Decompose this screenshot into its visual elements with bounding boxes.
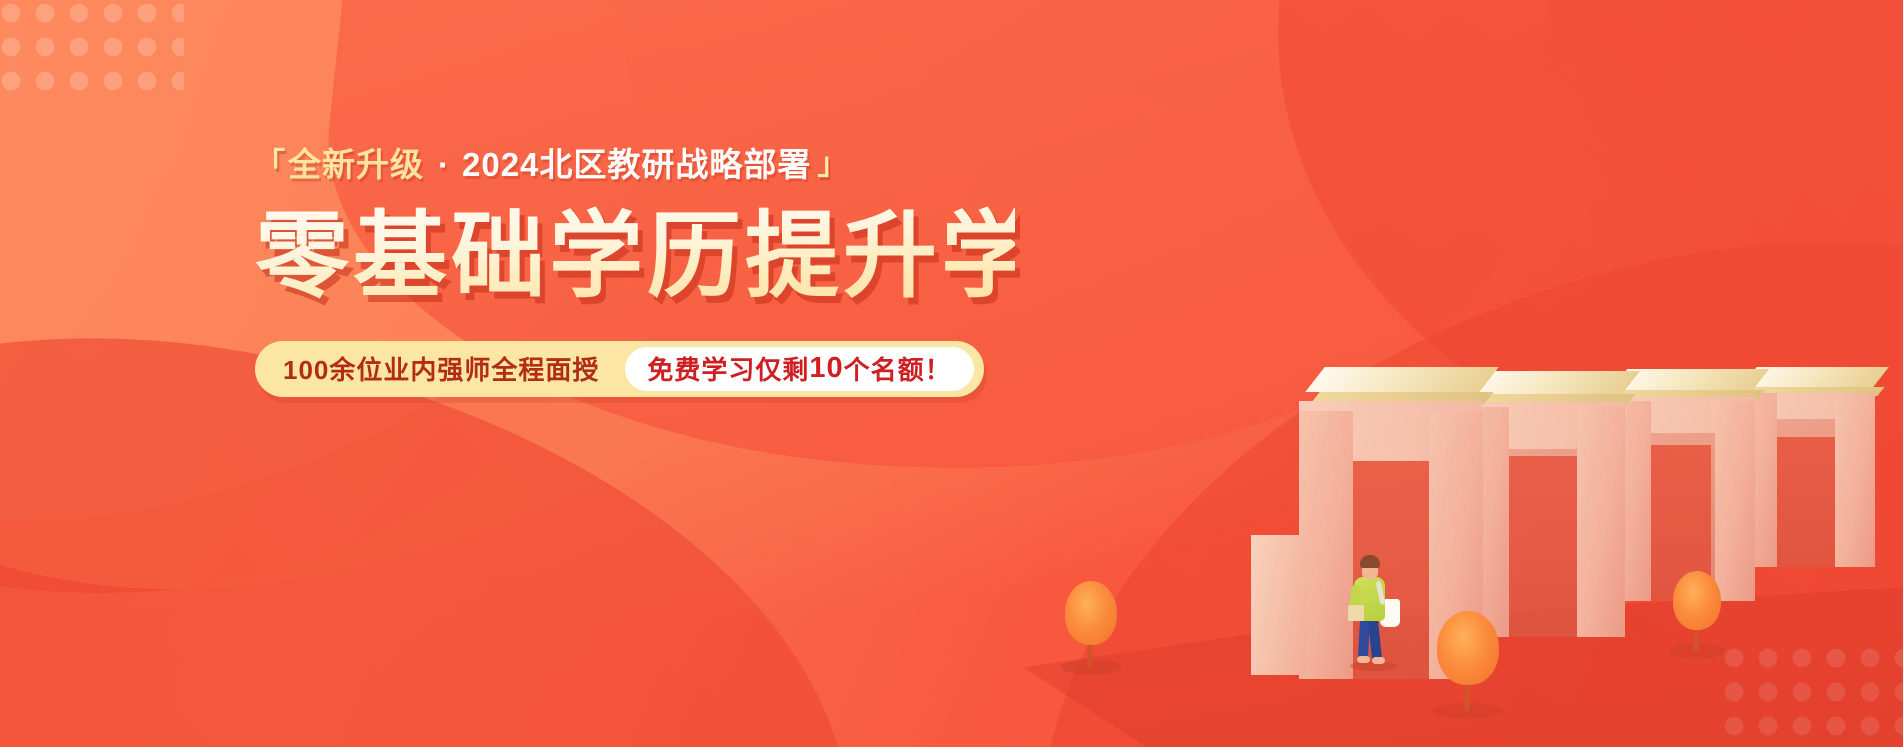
promo-banner: 「 全新升级 · 2024北区教研战略部署 」 零基础学历提升学霸班 100余位… bbox=[0, 0, 1903, 747]
subtitle-close-bracket: 」 bbox=[817, 150, 848, 180]
illustration-arch-leg bbox=[1461, 407, 1509, 637]
illustration-arch-opening bbox=[1651, 433, 1715, 601]
dot-grid-icon bbox=[1717, 641, 1903, 747]
subtitle-open-bracket: 「 bbox=[255, 150, 286, 180]
illustration-arch-lintel bbox=[1607, 397, 1755, 445]
illustration-arch bbox=[1293, 367, 1489, 679]
illustration-tree bbox=[1437, 611, 1499, 711]
illustration-arch-cap-edge bbox=[1615, 390, 1765, 400]
illustration-arch-leg bbox=[1577, 407, 1625, 637]
subtitle-highlight-text: 全新升级 bbox=[288, 148, 424, 181]
banner-copy: 「 全新升级 · 2024北区教研战略部署 」 零基础学历提升学霸班 100余位… bbox=[255, 148, 1015, 397]
illustration-arch-opening bbox=[1509, 449, 1577, 637]
illustration-tree bbox=[1673, 571, 1721, 651]
illustration-arch-cap bbox=[1741, 367, 1889, 387]
illustration-arch-leg bbox=[1607, 401, 1651, 601]
illustration-ground-shadow bbox=[1023, 537, 1903, 747]
illustration-arch bbox=[1601, 369, 1761, 601]
badge-pill-prefix: 免费学习仅剩 bbox=[647, 350, 809, 387]
illustration-arch-cap-edge bbox=[1310, 392, 1493, 404]
illustration-arch-cap-edge bbox=[1745, 387, 1884, 396]
illustration-arch-leg bbox=[1737, 393, 1777, 567]
badge-pill-suffix: 个名额！ bbox=[844, 350, 952, 387]
student-walking-icon bbox=[1348, 555, 1408, 675]
background-wave-shape bbox=[1191, 0, 1903, 539]
illustration-arch-cap-edge bbox=[1471, 394, 1636, 405]
badge-pill-number: 10 bbox=[809, 352, 843, 385]
illustration-arch bbox=[1455, 371, 1631, 637]
illustration-arch-leg bbox=[1835, 393, 1875, 567]
illustration-arch-lintel bbox=[1461, 402, 1625, 456]
illustration-arch-leg bbox=[1429, 411, 1483, 679]
illustration-arch-cap bbox=[1466, 371, 1640, 394]
dot-grid-icon bbox=[0, 0, 184, 104]
badge-pill: 免费学习仅剩 10 个名额！ bbox=[625, 347, 973, 391]
page-title: 零基础学历提升学霸班 bbox=[255, 205, 1015, 307]
status-badge: 100余位业内强师全程面授 免费学习仅剩 10 个名额！ bbox=[255, 341, 984, 397]
illustration-arch-lintel bbox=[1737, 393, 1875, 437]
illustration-arch bbox=[1731, 367, 1881, 567]
illustration-tree bbox=[1065, 581, 1117, 667]
illustration-arch-lintel bbox=[1299, 401, 1481, 461]
subtitle-plain-text: 2024北区教研战略部署 bbox=[462, 148, 811, 181]
banner-subtitle: 「 全新升级 · 2024北区教研战略部署 」 bbox=[255, 148, 1015, 181]
illustration-arch-cap bbox=[1611, 369, 1769, 390]
illustration-arch-opening bbox=[1353, 461, 1429, 679]
illustration-arch-cap bbox=[1305, 367, 1499, 392]
badge-left-label: 100余位业内强师全程面授 bbox=[283, 350, 625, 387]
subtitle-separator: · bbox=[438, 148, 450, 181]
illustration-front-slab bbox=[1251, 535, 1307, 675]
illustration-arch-leg bbox=[1299, 411, 1353, 679]
illustration-arch-leg bbox=[1711, 401, 1755, 601]
illustration-arch-opening bbox=[1777, 419, 1835, 567]
